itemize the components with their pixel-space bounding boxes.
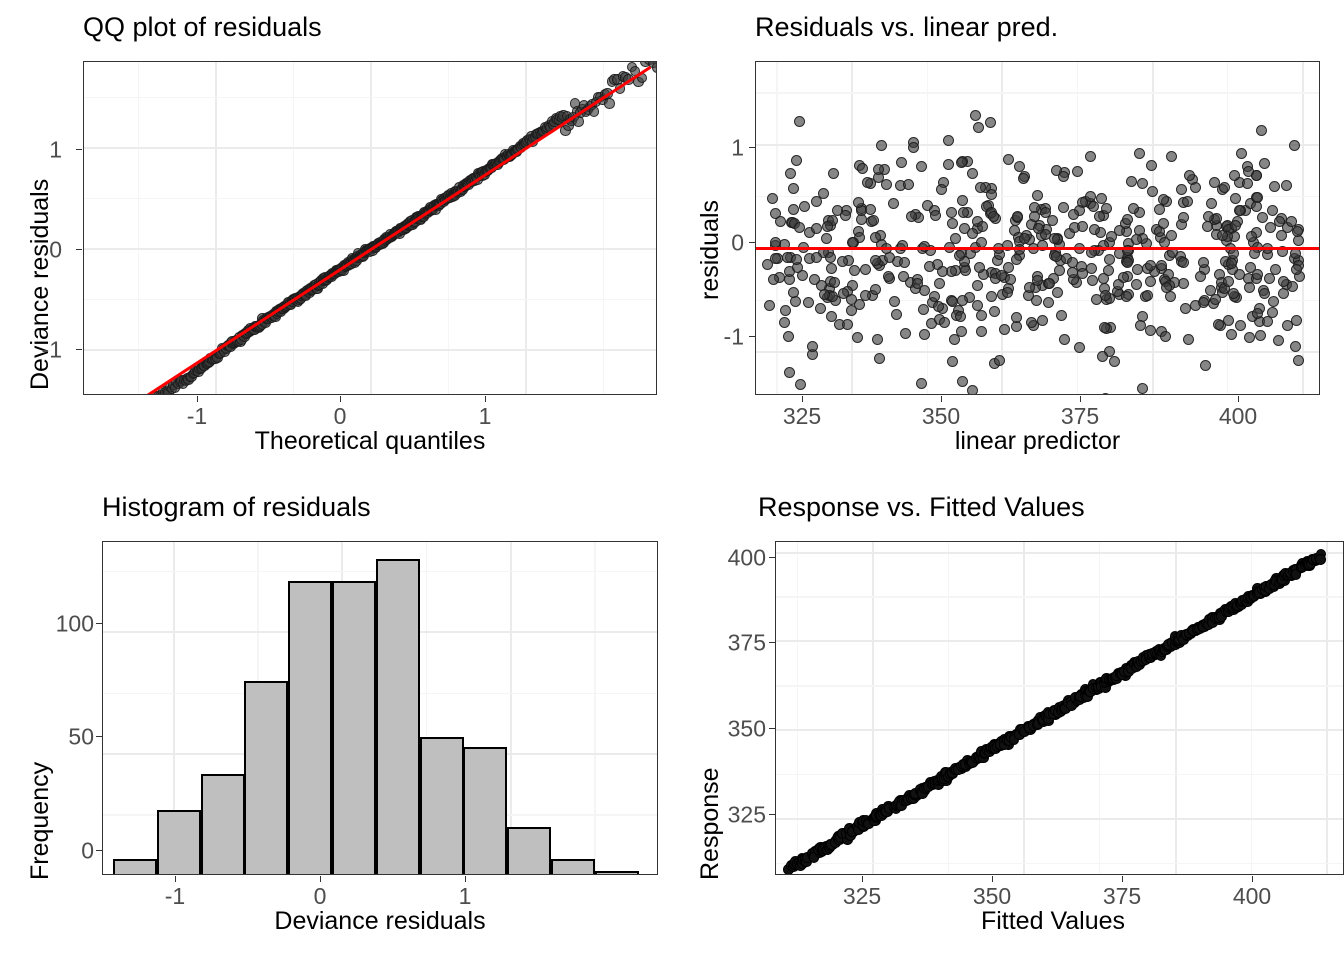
qq-y-tickmark-1 — [76, 149, 82, 150]
grid-line-horizontal — [756, 351, 1319, 353]
data-point — [1289, 140, 1300, 151]
grid-line-vertical-minor — [293, 62, 294, 394]
data-point — [1032, 275, 1043, 286]
data-point — [1077, 221, 1088, 232]
data-point — [852, 332, 863, 343]
data-point — [985, 117, 996, 128]
panel-histogram-of-residuals: Histogram of residuals Frequency Devianc… — [0, 480, 672, 960]
data-point — [899, 257, 910, 268]
data-point — [1089, 224, 1100, 235]
data-point — [939, 317, 950, 328]
data-point — [1058, 202, 1069, 213]
data-point — [1236, 148, 1247, 159]
data-point — [957, 295, 968, 306]
data-point — [1067, 257, 1078, 268]
data-point — [1122, 214, 1133, 225]
histogram-plot-area — [102, 541, 658, 875]
data-point — [1056, 310, 1067, 321]
data-point — [783, 331, 794, 342]
data-point — [947, 218, 958, 229]
respfit-y-tick-400: 400 — [718, 547, 766, 570]
data-point — [826, 263, 837, 274]
data-point — [1072, 166, 1083, 177]
data-point — [1161, 282, 1172, 293]
grid-line-horizontal — [84, 349, 656, 351]
grid-line-vertical-minor — [1099, 542, 1100, 874]
data-point — [1230, 220, 1241, 231]
data-point — [1096, 193, 1107, 204]
data-point — [1251, 201, 1262, 212]
data-point — [788, 204, 799, 215]
data-point — [604, 98, 615, 109]
data-point — [1252, 269, 1263, 280]
data-point — [947, 296, 958, 307]
resid-x-tickmark-375 — [1080, 396, 1081, 402]
data-point — [967, 385, 978, 395]
data-point — [1131, 279, 1142, 290]
data-point — [1255, 330, 1266, 341]
data-point — [1087, 275, 1098, 286]
histogram-bar — [332, 581, 376, 875]
qq-y-tickmark-0 — [76, 249, 82, 250]
grid-line-vertical — [370, 62, 372, 394]
data-point — [943, 135, 954, 146]
data-point — [976, 326, 987, 337]
data-point — [1043, 297, 1054, 308]
data-point — [1244, 332, 1255, 343]
data-point — [972, 280, 983, 291]
hist-y-tick-0: 0 — [52, 840, 94, 863]
resid-x-tick-375: 375 — [1061, 405, 1099, 428]
data-point — [1268, 296, 1279, 307]
residuals-plot-area — [755, 61, 1320, 395]
data-point — [788, 183, 799, 194]
data-point — [1206, 198, 1217, 209]
data-point — [1099, 322, 1110, 333]
hist-y-tick-50: 50 — [52, 726, 94, 749]
qq-y-tick-0: 0 — [40, 239, 62, 262]
data-point — [1223, 276, 1234, 287]
data-point — [1026, 317, 1037, 328]
histogram-bar — [463, 747, 507, 875]
data-point — [1273, 335, 1284, 346]
data-point — [1002, 287, 1013, 298]
data-point — [779, 317, 790, 328]
data-point — [1097, 351, 1108, 362]
data-point — [1044, 278, 1055, 289]
hist-x-tickmark-1 — [465, 876, 466, 882]
data-point — [853, 197, 864, 208]
data-point — [1230, 193, 1241, 204]
histogram-bar — [376, 559, 420, 875]
histogram-bar — [201, 774, 245, 875]
qq-plot-title: QQ plot of residuals — [83, 14, 322, 41]
data-point — [821, 233, 832, 244]
data-point — [975, 182, 986, 193]
grid-line-horizontal-minor — [776, 685, 1343, 686]
data-point — [933, 301, 944, 312]
data-point — [1183, 334, 1194, 345]
hist-x-tick-1: 1 — [459, 885, 472, 908]
qq-x-tick-neg1: -1 — [187, 405, 207, 428]
resid-x-tick-325: 325 — [783, 405, 821, 428]
grid-line-horizontal-minor — [84, 198, 656, 199]
data-point — [1166, 151, 1177, 162]
respfit-x-tickmark-350 — [992, 876, 993, 882]
respfit-plot-x-axis-label: Fitted Values — [775, 907, 1331, 936]
data-point — [842, 319, 853, 330]
qq-x-tickmark-0 — [340, 396, 341, 402]
hist-x-tick-0: 0 — [314, 885, 327, 908]
data-point — [947, 356, 958, 367]
data-point — [1264, 273, 1275, 284]
data-point — [1132, 264, 1143, 275]
data-point — [1059, 334, 1070, 345]
hist-plot-y-axis-label: Frequency — [26, 762, 55, 880]
data-point — [934, 278, 945, 289]
data-point — [1037, 315, 1048, 326]
data-point — [1142, 290, 1153, 301]
data-point — [943, 159, 954, 170]
data-point — [876, 140, 887, 151]
histogram-bar — [507, 827, 551, 875]
data-point — [1287, 281, 1298, 292]
grid-line-horizontal — [776, 640, 1343, 642]
data-point — [1146, 160, 1157, 171]
data-point — [1051, 251, 1062, 262]
data-point — [807, 341, 818, 352]
hist-y-tick-100: 100 — [52, 613, 94, 636]
grid-line-horizontal-minor — [84, 97, 656, 98]
data-point — [1235, 320, 1246, 331]
data-point — [870, 284, 881, 295]
data-point — [1158, 218, 1169, 229]
data-point — [784, 367, 795, 378]
panel-qq-plot: QQ plot of residuals Deviance residuals … — [0, 0, 672, 480]
resid-y-tick-1: 1 — [722, 137, 744, 160]
grid-line-vertical — [1175, 542, 1177, 874]
data-point — [1156, 260, 1167, 271]
data-point — [1176, 184, 1187, 195]
qq-x-tickmark-1 — [485, 396, 486, 402]
grid-line-vertical — [1326, 542, 1328, 874]
data-point — [849, 265, 860, 276]
data-point — [970, 110, 981, 121]
diagnostic-plot-figure: QQ plot of residuals Deviance residuals … — [0, 0, 1344, 960]
data-point — [1257, 212, 1268, 223]
data-point — [811, 196, 822, 207]
hist-x-tick-neg1: -1 — [165, 885, 185, 908]
data-point — [1091, 294, 1102, 305]
grid-line-vertical — [215, 62, 217, 394]
data-point — [936, 184, 947, 195]
data-point — [1032, 190, 1043, 201]
hist-x-tickmark-neg1 — [175, 876, 176, 882]
data-point — [785, 168, 796, 179]
data-point — [1198, 297, 1209, 308]
data-point — [1126, 176, 1137, 187]
histogram-bar — [157, 810, 201, 875]
grid-line-horizontal-minor — [776, 863, 1343, 864]
respfit-x-tick-375: 375 — [1103, 885, 1141, 908]
data-point — [1242, 178, 1253, 189]
data-point — [1121, 291, 1132, 302]
data-point — [957, 195, 968, 206]
data-point — [1160, 331, 1171, 342]
qq-y-tickmark-neg1 — [76, 349, 82, 350]
data-point — [1256, 125, 1267, 136]
resid-plot-y-axis-label: residuals — [696, 200, 725, 300]
respfit-x-tickmark-400 — [1252, 876, 1253, 882]
data-point — [1019, 233, 1030, 244]
data-point — [967, 168, 978, 179]
grid-line-vertical — [1023, 542, 1025, 874]
data-point — [891, 309, 902, 320]
data-point — [775, 216, 786, 227]
data-point — [1213, 319, 1224, 330]
data-point — [840, 210, 851, 221]
data-point — [976, 310, 987, 321]
grid-line-horizontal-minor — [756, 92, 1319, 93]
data-point — [1195, 271, 1206, 282]
respfit-x-tick-350: 350 — [973, 885, 1011, 908]
resid-x-tick-350: 350 — [922, 405, 960, 428]
data-point — [1226, 329, 1237, 340]
data-point — [1274, 216, 1285, 227]
data-point — [1202, 221, 1213, 232]
data-point — [1244, 282, 1255, 293]
grid-line-horizontal — [84, 147, 656, 149]
resid-x-tickmark-400 — [1238, 396, 1239, 402]
resid-plot-x-axis-label: linear predictor — [755, 427, 1320, 456]
resid-plot-title: Residuals vs. linear pred. — [755, 14, 1058, 41]
resid-y-tick-0: 0 — [722, 232, 744, 255]
data-point — [908, 142, 919, 153]
data-point — [1077, 268, 1088, 279]
grid-line-vertical — [525, 62, 527, 394]
respfit-y-tick-350: 350 — [718, 718, 766, 741]
qq-x-tick-0: 0 — [334, 405, 347, 428]
data-point — [1011, 312, 1022, 323]
data-point — [770, 253, 781, 264]
data-point — [956, 326, 967, 337]
histogram-bar — [420, 737, 464, 875]
data-point — [811, 223, 822, 234]
data-point — [989, 306, 1000, 317]
data-point — [1219, 182, 1230, 193]
data-point — [1134, 148, 1145, 159]
data-point — [1166, 230, 1177, 241]
data-point — [1282, 320, 1293, 331]
hist-plot-x-axis-label: Deviance residuals — [102, 907, 658, 936]
qq-y-tick-neg1: -1 — [34, 339, 62, 362]
data-point — [946, 207, 957, 218]
respfit-plot-title: Response vs. Fitted Values — [758, 494, 1085, 521]
data-point — [811, 252, 822, 263]
resid-x-tickmark-350 — [941, 396, 942, 402]
data-point — [1137, 178, 1148, 189]
data-point — [1178, 212, 1189, 223]
data-point — [1106, 231, 1117, 242]
data-point — [937, 266, 948, 277]
grid-line-horizontal-minor — [776, 774, 1343, 775]
data-point — [1200, 360, 1211, 371]
data-point — [1269, 181, 1280, 192]
data-point — [1180, 303, 1191, 314]
data-point — [1286, 216, 1297, 227]
data-point — [1058, 171, 1069, 182]
data-point — [1018, 173, 1029, 184]
data-point — [1203, 211, 1214, 222]
data-point — [1122, 257, 1133, 268]
qq-y-tick-1: 1 — [40, 139, 62, 162]
data-point — [846, 305, 857, 316]
respfit-x-tick-325: 325 — [843, 885, 881, 908]
data-point — [1178, 257, 1189, 268]
data-point — [1054, 265, 1065, 276]
data-point — [764, 300, 775, 311]
data-point — [994, 355, 1005, 366]
qq-plot-x-axis-label: Theoretical quantiles — [83, 427, 657, 456]
resid-x-tick-400: 400 — [1219, 405, 1257, 428]
data-point — [828, 168, 839, 179]
data-point — [1094, 211, 1105, 222]
grid-line-vertical — [1001, 62, 1003, 394]
data-point — [1178, 278, 1189, 289]
grid-line-horizontal — [776, 729, 1343, 731]
data-point — [1217, 230, 1228, 241]
data-point — [868, 215, 879, 226]
data-point — [999, 324, 1010, 335]
qq-x-tickmark-neg1 — [197, 396, 198, 402]
data-point — [865, 204, 876, 215]
histogram-bar — [113, 859, 157, 875]
grid-line-vertical-minor — [448, 62, 449, 394]
grid-line-vertical-minor — [776, 62, 777, 394]
data-point — [1315, 554, 1326, 565]
data-point — [870, 255, 881, 266]
grid-line-vertical-minor — [797, 542, 798, 874]
data-point — [1068, 209, 1079, 220]
data-point — [862, 177, 873, 188]
data-point — [900, 328, 911, 339]
data-point — [1182, 196, 1193, 207]
data-point — [1210, 294, 1221, 305]
data-point — [1085, 151, 1096, 162]
data-point — [1137, 383, 1148, 394]
data-point — [803, 297, 814, 308]
panel-response-vs-fitted: Response vs. Fitted Values Response Fitt… — [672, 480, 1344, 960]
grid-line-horizontal-minor — [84, 299, 656, 300]
resid-y-tick-neg1: -1 — [716, 326, 744, 349]
data-point — [829, 277, 840, 288]
data-point — [874, 353, 885, 364]
grid-line-horizontal — [776, 552, 1343, 554]
respfit-y-tick-325: 325 — [718, 804, 766, 827]
data-point — [154, 394, 165, 395]
grid-line-vertical-minor — [927, 62, 928, 394]
data-point — [1198, 257, 1209, 268]
data-point — [1052, 287, 1063, 298]
resid-x-tickmark-325 — [802, 396, 803, 402]
data-point — [1262, 316, 1273, 327]
data-point — [780, 305, 791, 316]
data-point — [860, 264, 871, 275]
histogram-bar — [288, 581, 332, 875]
data-point — [972, 300, 983, 311]
data-point — [906, 211, 917, 222]
hist-x-tickmark-0 — [320, 876, 321, 882]
data-point — [1145, 260, 1156, 271]
data-point — [903, 179, 914, 190]
response-vs-fitted-plot-area — [775, 541, 1344, 875]
data-point — [791, 155, 802, 166]
grid-line-horizontal — [756, 144, 1319, 146]
data-point — [955, 311, 966, 322]
data-point — [977, 221, 988, 232]
grid-line-vertical-minor — [603, 62, 604, 394]
data-point — [1003, 154, 1014, 165]
grid-line-vertical-minor — [594, 542, 595, 874]
data-point — [1104, 254, 1115, 265]
histogram-bar — [595, 871, 639, 875]
data-point — [1109, 356, 1120, 367]
data-point — [1049, 233, 1060, 244]
respfit-y-tick-375: 375 — [718, 632, 766, 655]
data-point — [1113, 279, 1124, 290]
data-point — [1276, 230, 1287, 241]
data-point — [1223, 315, 1234, 326]
panel-residuals-vs-linear-predictor: Residuals vs. linear pred. residuals lin… — [672, 0, 1344, 480]
histogram-bar — [244, 681, 288, 875]
zero-reference-line — [756, 247, 1320, 250]
data-point — [1252, 308, 1263, 319]
respfit-x-tick-400: 400 — [1233, 885, 1271, 908]
data-point — [919, 329, 930, 340]
hist-plot-title: Histogram of residuals — [102, 494, 371, 521]
data-point — [1003, 262, 1014, 273]
data-point — [973, 122, 984, 133]
data-point — [1014, 161, 1025, 172]
grid-line-vertical-minor — [138, 62, 139, 394]
data-point — [1147, 186, 1158, 197]
data-point — [1098, 273, 1109, 284]
data-point — [1047, 215, 1058, 226]
data-point — [1290, 341, 1301, 352]
data-point — [1281, 180, 1292, 191]
data-point — [950, 233, 961, 244]
qq-plot-area — [83, 61, 657, 395]
data-point — [930, 210, 941, 221]
data-point — [857, 163, 868, 174]
data-point — [896, 157, 907, 168]
data-point — [916, 378, 927, 389]
data-point — [767, 193, 778, 204]
data-point — [825, 252, 836, 263]
respfit-x-tickmark-375 — [1122, 876, 1123, 882]
data-point — [924, 261, 935, 272]
data-point — [794, 116, 805, 127]
data-point — [652, 62, 657, 73]
data-point — [898, 271, 909, 282]
data-point — [1145, 276, 1156, 287]
data-point — [1291, 264, 1302, 275]
data-point — [912, 278, 923, 289]
data-point — [1243, 166, 1254, 177]
grid-line-vertical-minor — [948, 542, 949, 874]
data-point — [799, 201, 810, 212]
grid-line-vertical — [510, 542, 512, 874]
